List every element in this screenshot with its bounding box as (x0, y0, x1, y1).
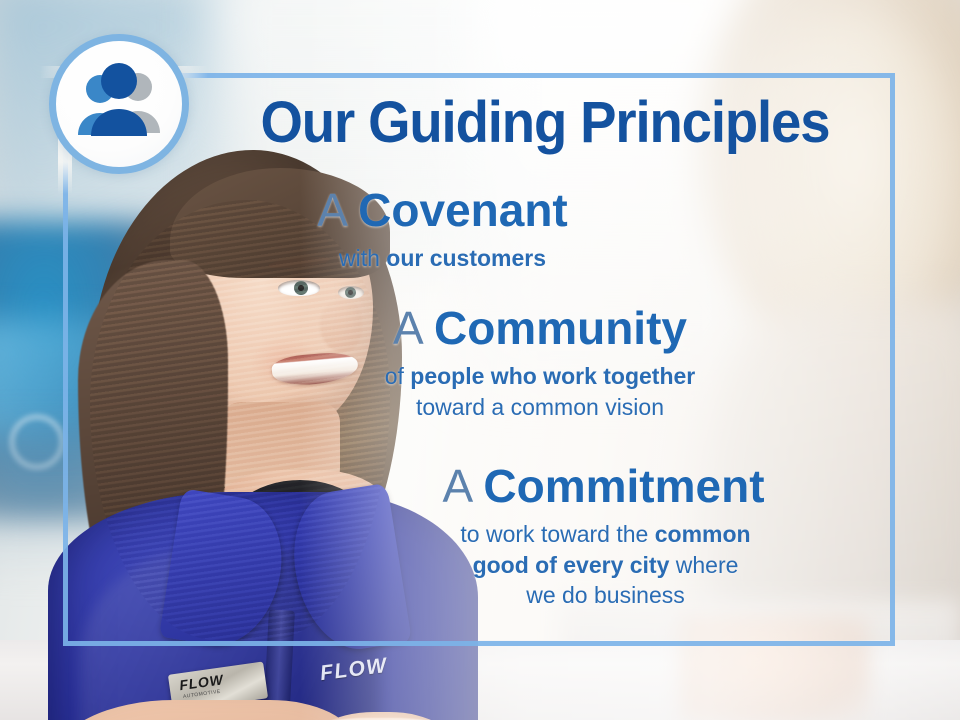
principle-community-subtitle: of people who work together toward a com… (255, 361, 825, 422)
principle-covenant-title: A Covenant (205, 186, 680, 234)
principle-commitment-title: A Commitment (335, 462, 880, 510)
principle-commitment-article: A (442, 460, 470, 512)
principle-covenant-keyword: Covenant (358, 184, 568, 236)
principle-commitment-subtitle-line-2: good of every city where (335, 550, 876, 580)
principle-commitment: A Commitment to work toward the common g… (335, 462, 880, 610)
principle-commitment-subtitle: to work toward the common good of every … (335, 519, 880, 610)
principle-community-keyword: Community (434, 302, 687, 354)
principle-covenant-subtitle-line-1: with our customers (205, 243, 680, 273)
page-title: Our Guiding Principles (225, 94, 864, 152)
principle-community-title: A Community (255, 304, 825, 352)
principle-community-article: A (393, 302, 421, 354)
principle-commitment-subtitle-line-3: we do business (335, 580, 876, 610)
principle-community-subtitle-line-1: of people who work together (255, 361, 825, 391)
principle-commitment-keyword: Commitment (483, 460, 764, 512)
principle-covenant: A Covenant with our customers (205, 186, 680, 274)
principle-community-subtitle-line-2: toward a common vision (255, 392, 825, 422)
principle-community: A Community of people who work together … (255, 304, 825, 422)
principle-commitment-subtitle-line-1: to work toward the common (335, 519, 876, 549)
principle-covenant-article: A (317, 184, 345, 236)
principles-badge (49, 34, 189, 174)
guiding-principles-graphic: FLOW FLOW AUTOMOTIVE (0, 0, 960, 720)
principle-covenant-subtitle: with our customers (205, 243, 680, 273)
group-of-people-icon (56, 41, 182, 167)
